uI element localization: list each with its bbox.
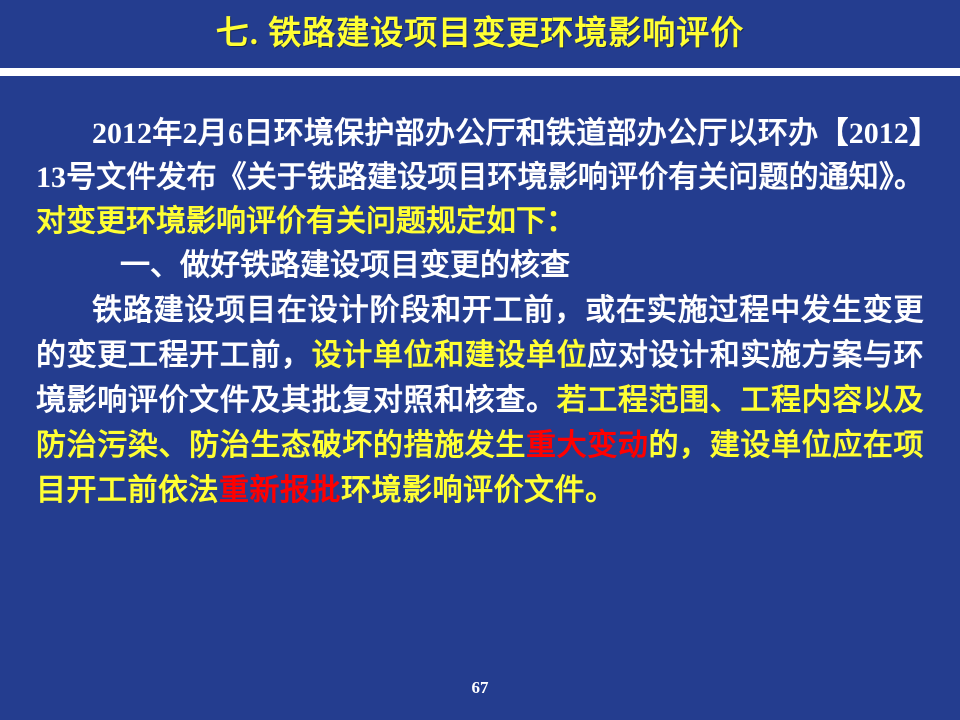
body-paragraph-2: 铁路建设项目在设计阶段和开工前，或在实施过程中发生变更的变更工程开工前，设计单位… bbox=[36, 288, 924, 513]
title-divider-rule bbox=[0, 68, 960, 76]
paragraph-1-run-yellow: 对变更环境影响评价有关问题规定如下： bbox=[36, 205, 576, 238]
body-heading-1: 一、做好铁路建设项目变更的核查 bbox=[36, 244, 924, 288]
paragraph-1-run-white: 2012年2月6日环境保护部办公厅和铁道部办公厅以环办【2012】13号文件发布… bbox=[36, 117, 924, 194]
paragraph-2-run-yellow-1: 设计单位和建设单位 bbox=[312, 339, 588, 372]
slide-title-bar: 七. 铁路建设项目变更环境影响评价 bbox=[0, 0, 960, 68]
heading-1-text: 一、做好铁路建设项目变更的核查 bbox=[120, 249, 570, 282]
page-number: 67 bbox=[0, 678, 960, 698]
paragraph-2-run-yellow-4: 环境影响评价文件。 bbox=[341, 474, 616, 507]
page-title: 七. 铁路建设项目变更环境影响评价 bbox=[216, 16, 745, 52]
presentation-slide: 七. 铁路建设项目变更环境影响评价 2012年2月6日环境保护部办公厅和铁道部办… bbox=[0, 0, 960, 720]
paragraph-2-run-red-2: 重新报批 bbox=[219, 474, 341, 507]
paragraph-2-run-red-1: 重大变动 bbox=[526, 429, 649, 462]
body-paragraph-1: 2012年2月6日环境保护部办公厅和铁道部办公厅以环办【2012】13号文件发布… bbox=[36, 112, 924, 244]
slide-body: 2012年2月6日环境保护部办公厅和铁道部办公厅以环办【2012】13号文件发布… bbox=[36, 112, 924, 513]
